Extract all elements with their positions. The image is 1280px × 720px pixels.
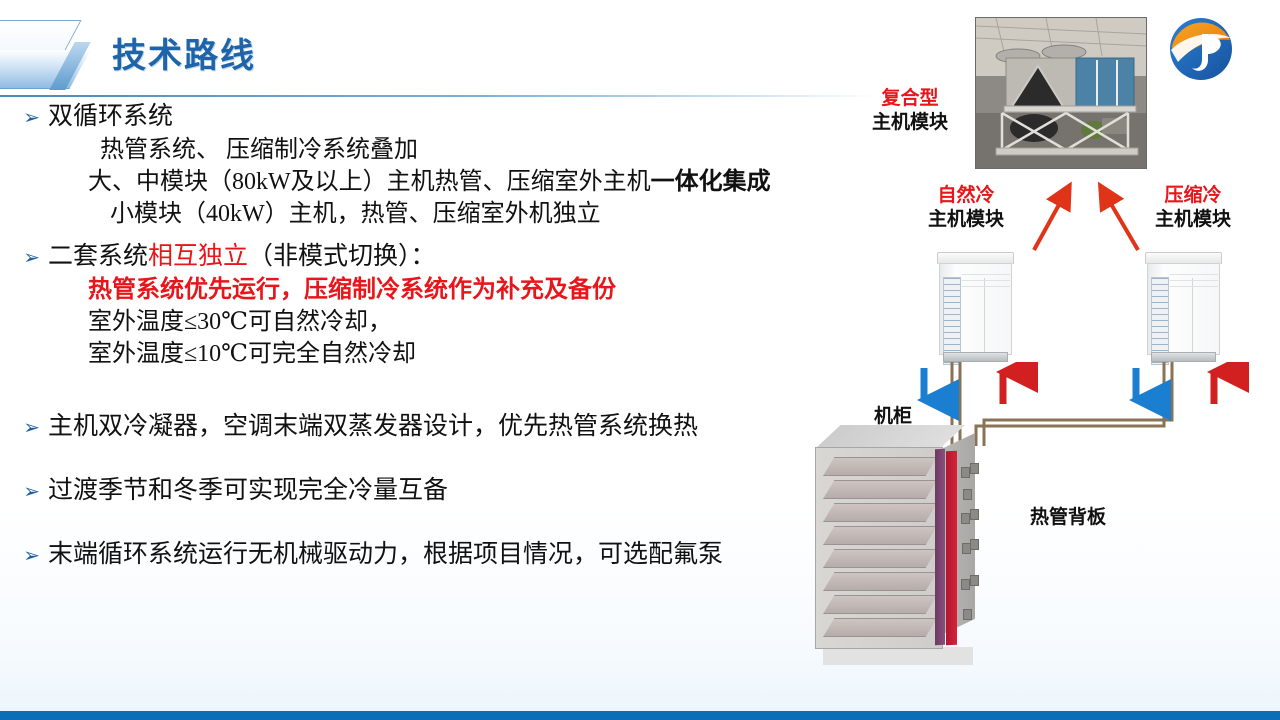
cabinet-shadow: [823, 647, 973, 665]
odu-louver: [962, 274, 1010, 275]
bullet-1-line-1: 热管系统、 压缩制冷系统叠加: [0, 134, 880, 166]
arrow-compression-to-composite: [1104, 192, 1138, 250]
cabinet-port: [963, 609, 972, 620]
bullet-2-heading-highlight: 相互独立: [148, 243, 248, 270]
cabinet-shelf: [823, 503, 937, 522]
heatpipe-backplate-panel: [946, 451, 957, 646]
bullet-5-text: 末端循环系统运行无机械驱动力，根据项目情况，可选配氟泵: [48, 538, 723, 572]
bullet-item-4: ➢ 过渡季节和冬季可实现完全冷量互备: [0, 474, 880, 508]
cabinet-rear-panel-purple: [935, 449, 945, 646]
spacer: [0, 370, 880, 410]
cabinet-port: [970, 463, 979, 474]
slide-canvas: 技术路线 ➢ 双循环系统 热管系统、 压缩制冷系统叠加: [0, 0, 1280, 720]
odu-louver: [1170, 280, 1218, 281]
bullet-item-1: ➢ 双循环系统: [0, 100, 880, 134]
odu-louver: [962, 280, 1010, 281]
header-divider: [0, 95, 880, 97]
odu-louver: [1170, 286, 1218, 287]
bullet-item-5: ➢ 末端循环系统运行无机械驱动力，根据项目情况，可选配氟泵: [0, 538, 880, 572]
cabinet-port: [963, 489, 972, 500]
cabinet-top-face: [815, 425, 965, 449]
composite-chiller-photo: [975, 17, 1147, 169]
bullet-2-line-1: 热管系统优先运行，压缩制冷系统作为补充及备份: [0, 274, 880, 306]
bullet-1-line-2: 大、中模块（80kW及以上）主机热管、压缩室外主机一体化集成: [0, 166, 880, 198]
cabinet-shelf: [823, 480, 937, 499]
bullet-1-heading: 双循环系统: [48, 100, 173, 134]
cabinet-shelf: [823, 457, 937, 476]
label-natural-cooling-module: 自然冷 主机模块: [928, 183, 1004, 231]
bullet-arrow-icon: ➢: [0, 100, 48, 134]
bullet-arrow-icon: ➢: [0, 538, 48, 572]
bullet-arrow-icon: ➢: [0, 240, 48, 274]
label-composite-module: 复合型 主机模块: [872, 86, 948, 134]
cabinet-port: [961, 513, 970, 524]
bullet-2-heading-a: 二套系统: [48, 243, 148, 270]
cabinet-port: [970, 575, 979, 586]
bullet-item-3: ➢ 主机双冷凝器，空调末端双蒸发器设计，优先热管系统换热: [0, 410, 880, 444]
bullet-1-line-2a: 大、中模块（80kW及以上）主机热管、压缩室外主机: [88, 169, 651, 195]
cabinet-shelf: [823, 526, 937, 545]
label-natural-black: 主机模块: [928, 207, 1004, 231]
cabinet-shelf: [823, 595, 937, 614]
cabinet-port: [970, 509, 979, 520]
footer-bar: [0, 711, 1280, 720]
label-composite-red: 复合型: [872, 86, 948, 110]
label-natural-red: 自然冷: [928, 183, 1004, 207]
bullet-2-line-2: 室外温度≤30℃可自然冷却，: [0, 306, 880, 338]
arrow-natural-to-composite: [1034, 192, 1066, 250]
bullet-2-line-3: 室外温度≤10℃可完全自然冷却: [0, 338, 880, 370]
odu-louver: [1170, 274, 1218, 275]
page-title: 技术路线: [112, 28, 256, 77]
bullet-3-text: 主机双冷凝器，空调末端双蒸发器设计，优先热管系统换热: [48, 410, 698, 444]
bullet-item-2: ➢ 二套系统相互独立（非模式切换）：: [0, 240, 880, 274]
merge-arrows: [1000, 180, 1160, 260]
bullet-arrow-icon: ➢: [0, 410, 48, 444]
flow-arrows: [800, 362, 1280, 422]
server-cabinet: [815, 425, 1005, 665]
cabinet-shelf: [823, 618, 937, 637]
bullet-2-heading: 二套系统相互独立（非模式切换）：: [48, 240, 436, 274]
label-composite-black: 主机模块: [872, 110, 948, 134]
cabinet-shelf: [823, 549, 937, 568]
label-compression-cooling-module: 压缩冷 主机模块: [1155, 183, 1231, 231]
bullet-2-heading-b: （非模式切换）：: [248, 243, 436, 270]
label-heatpipe-backplate: 热管背板: [1030, 505, 1106, 529]
label-compression-black: 主机模块: [1155, 207, 1231, 231]
bullet-arrow-icon: ➢: [0, 474, 48, 508]
label-compression-red: 压缩冷: [1155, 183, 1231, 207]
bullet-list: ➢ 双循环系统 热管系统、 压缩制冷系统叠加 大、中模块（80kW及以上）主机热…: [0, 100, 880, 572]
cabinet-port: [961, 467, 970, 478]
cabinet-shelf: [823, 572, 937, 591]
odu-louver: [962, 286, 1010, 287]
spacer: [0, 444, 880, 474]
bullet-1-line-3: 小模块（40kW）主机，热管、压缩室外机独立: [0, 198, 880, 230]
cabinet-side-ports: [961, 461, 975, 633]
bullet-1-line-2b: 一体化集成: [651, 169, 771, 195]
bullet-4-text: 过渡季节和冬季可实现完全冷量互备: [48, 474, 448, 508]
spacer: [0, 508, 880, 538]
cabinet-port: [961, 579, 970, 590]
company-logo: [1166, 14, 1236, 84]
cabinet-port: [970, 539, 979, 550]
spacer: [0, 230, 880, 240]
